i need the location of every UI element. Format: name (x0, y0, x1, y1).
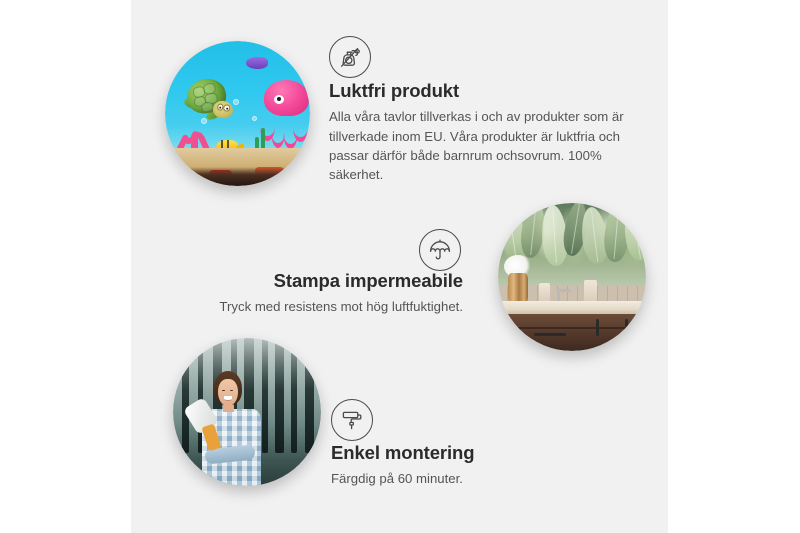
feature-waterproof-text: Stampa impermeabile Tryck med resistens … (181, 269, 463, 317)
painter-woman-forest-photo[interactable] (173, 338, 321, 486)
feature-description: Alla våra tavlor tillverkas i och av pro… (329, 107, 629, 185)
screenshot-root: Luktfri produkt Alla våra tavlor tillver… (0, 0, 800, 533)
photo-1-inner (165, 41, 310, 186)
octopus-eye (274, 95, 284, 104)
face (218, 379, 237, 407)
underwater-kids-scene-photo[interactable] (165, 41, 310, 186)
feature-title: Stampa impermeabile (181, 269, 463, 292)
feature-description: Färgdig på 60 minuter. (331, 469, 621, 488)
purple-fish-icon (246, 57, 268, 69)
content-panel: Luktfri produkt Alla våra tavlor tillver… (131, 0, 668, 533)
wooden-vanity (498, 314, 646, 351)
umbrella-icon (419, 229, 461, 271)
feature-description: Tryck med resistens mot hög luftfuktighe… (181, 297, 463, 316)
no-fragrance-icon (329, 36, 371, 78)
photo-3-inner (173, 338, 321, 486)
octopus-tentacle (293, 111, 308, 141)
sea-floor-shadow (165, 167, 310, 186)
photo-2-inner (498, 203, 646, 351)
smile (224, 396, 232, 400)
feature-title: Enkel montering (331, 441, 621, 464)
feature-odourless-text: Luktfri produkt Alla våra tavlor tillver… (329, 79, 629, 185)
faucet-spout (557, 289, 570, 292)
tree (182, 338, 189, 453)
turtle-icon (182, 79, 240, 123)
tree (275, 338, 284, 453)
bathroom-tropical-wallpaper-photo[interactable] (498, 203, 646, 351)
tree (291, 338, 297, 453)
feature-mounting-text: Enkel montering Färgdig på 60 minuter. (331, 441, 621, 489)
feature-title: Luktfri produkt (329, 79, 629, 102)
tree (305, 338, 314, 453)
paint-roller-icon (331, 399, 373, 441)
woman-figure (194, 371, 274, 486)
